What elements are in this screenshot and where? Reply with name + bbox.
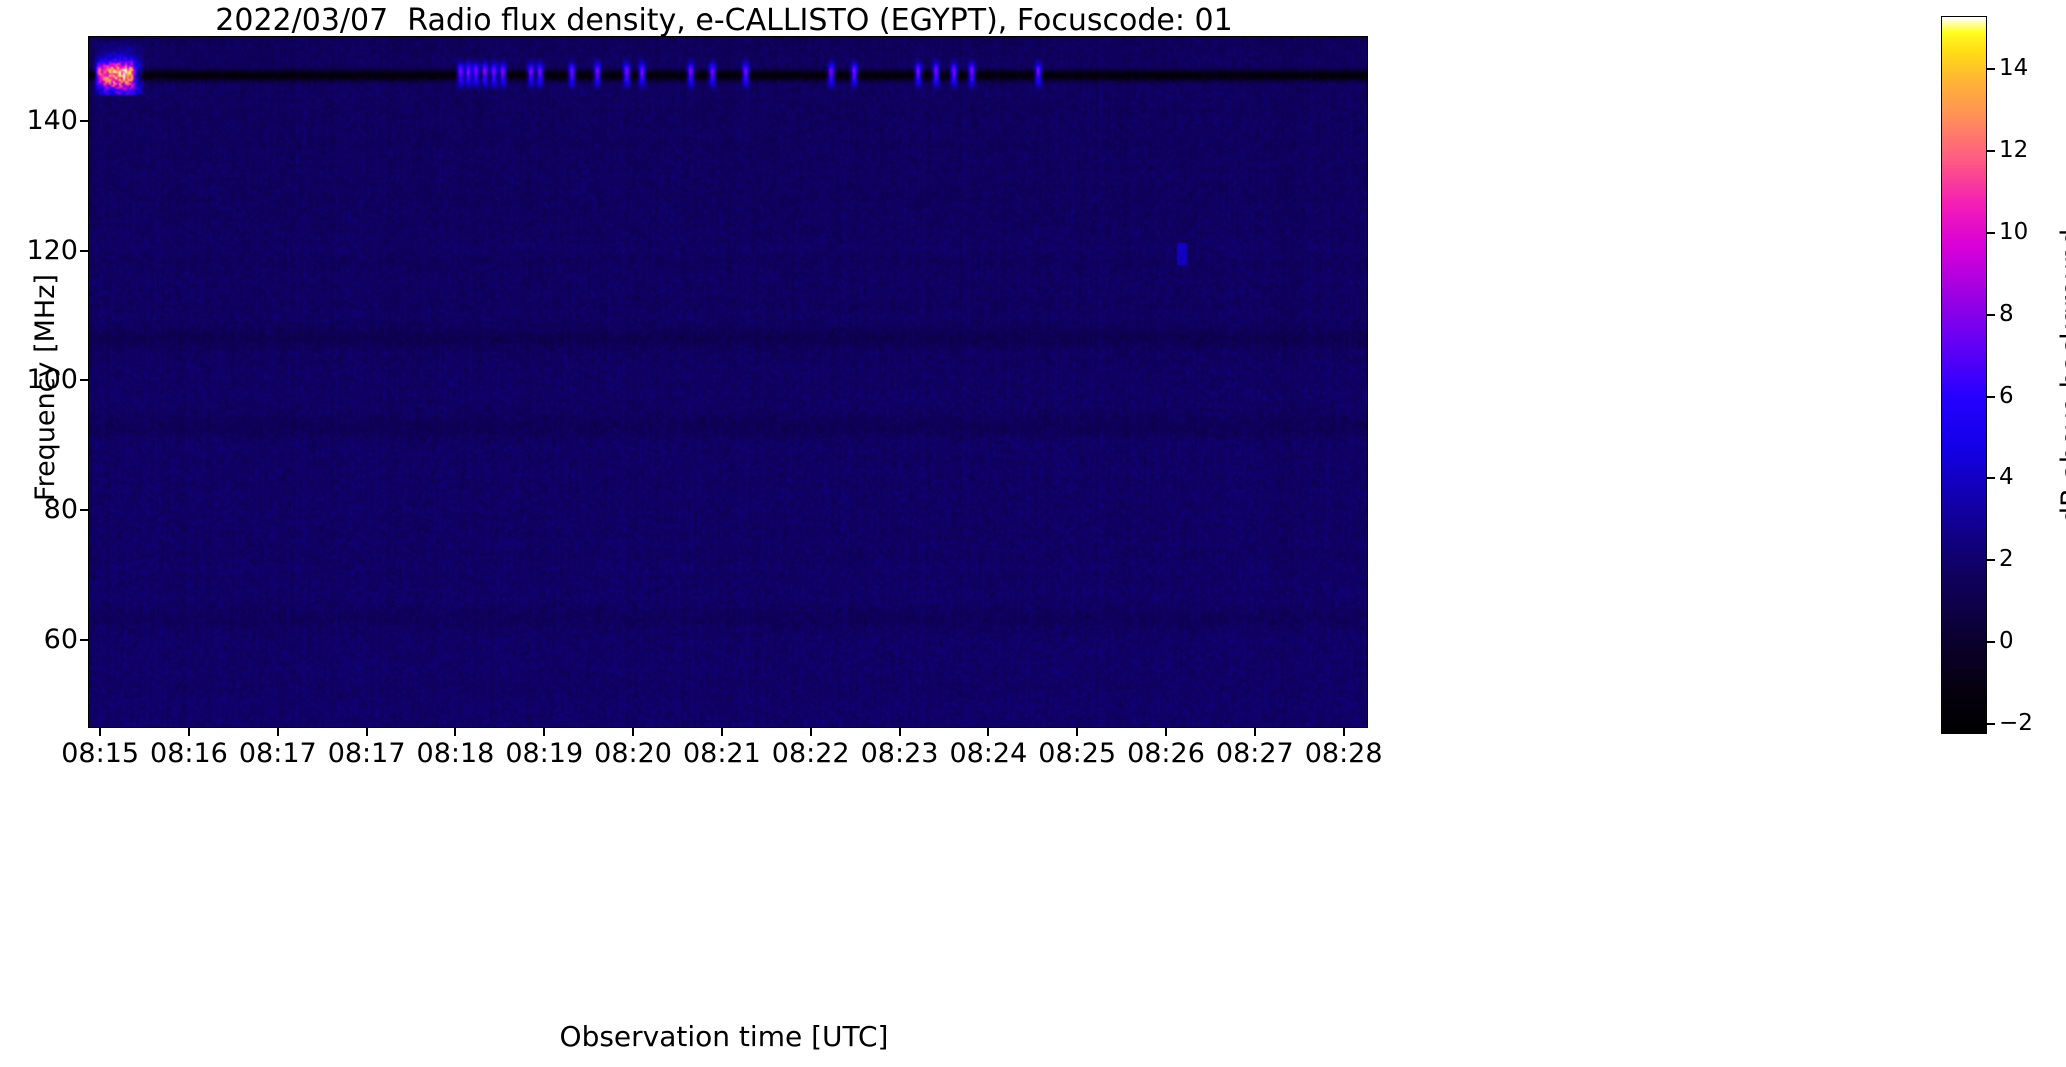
x-axis-tick-mark xyxy=(1076,728,1078,736)
x-axis-tick-mark xyxy=(1254,728,1256,736)
colorbar-tick-label: 12 xyxy=(1999,139,2059,162)
colorbar-tick-mark xyxy=(1987,232,1995,234)
colorbar-tick-label: 4 xyxy=(1999,466,2059,489)
colorbar-tick-mark xyxy=(1987,150,1995,152)
page-title: 2022/03/07 Radio flux density, e-CALLIST… xyxy=(0,4,1448,38)
colorbar-tick-mark xyxy=(1987,641,1995,643)
colorbar-tick-label: 10 xyxy=(1999,221,2059,244)
colorbar-tick-label: 8 xyxy=(1999,303,2059,326)
x-axis-tick-mark xyxy=(277,728,279,736)
y-axis-tick-label: 140 xyxy=(8,107,78,134)
x-axis-tick-mark xyxy=(721,728,723,736)
x-axis-tick-mark xyxy=(899,728,901,736)
y-axis-tick-mark xyxy=(80,120,88,122)
colorbar-tick-label: −2 xyxy=(1999,712,2059,735)
y-axis-tick-label: 120 xyxy=(8,237,78,264)
colorbar-gradient xyxy=(1942,17,1986,733)
colorbar-tick-label: 2 xyxy=(1999,548,2059,571)
colorbar-tick-mark xyxy=(1987,723,1995,725)
colorbar-tick-label: 0 xyxy=(1999,630,2059,653)
x-axis-tick-mark xyxy=(188,728,190,736)
spectrogram-figure: 2022/03/07 Radio flux density, e-CALLIST… xyxy=(0,0,2066,1067)
spectrogram-image xyxy=(89,37,1367,727)
x-axis-tick-mark xyxy=(454,728,456,736)
spectrogram-plot-area xyxy=(88,36,1368,728)
y-axis-tick-mark xyxy=(80,509,88,511)
colorbar xyxy=(1941,16,1987,734)
colorbar-label: dB above background xyxy=(2056,229,2066,524)
colorbar-tick-mark xyxy=(1987,559,1995,561)
y-axis-tick-label: 100 xyxy=(8,366,78,393)
y-axis-tick-mark xyxy=(80,639,88,641)
y-axis-tick-mark xyxy=(80,250,88,252)
x-axis-tick-mark xyxy=(543,728,545,736)
x-axis-label: Observation time [UTC] xyxy=(0,1020,1448,1053)
colorbar-tick-label: 6 xyxy=(1999,385,2059,408)
colorbar-tick-mark xyxy=(1987,477,1995,479)
x-axis-tick-mark xyxy=(632,728,634,736)
y-axis-tick-mark xyxy=(80,379,88,381)
colorbar-tick-mark xyxy=(1987,314,1995,316)
y-axis-tick-label: 60 xyxy=(8,626,78,653)
x-axis-tick-mark xyxy=(987,728,989,736)
x-axis-tick-mark xyxy=(810,728,812,736)
x-axis-tick-mark xyxy=(366,728,368,736)
x-axis-tick-mark xyxy=(1343,728,1345,736)
colorbar-tick-mark xyxy=(1987,68,1995,70)
x-axis-tick-mark xyxy=(1165,728,1167,736)
x-axis-tick-mark xyxy=(99,728,101,736)
y-axis-tick-label: 80 xyxy=(8,496,78,523)
x-axis-tick-label: 08:28 xyxy=(1264,740,1424,767)
colorbar-tick-label: 14 xyxy=(1999,57,2059,80)
colorbar-tick-mark xyxy=(1987,396,1995,398)
